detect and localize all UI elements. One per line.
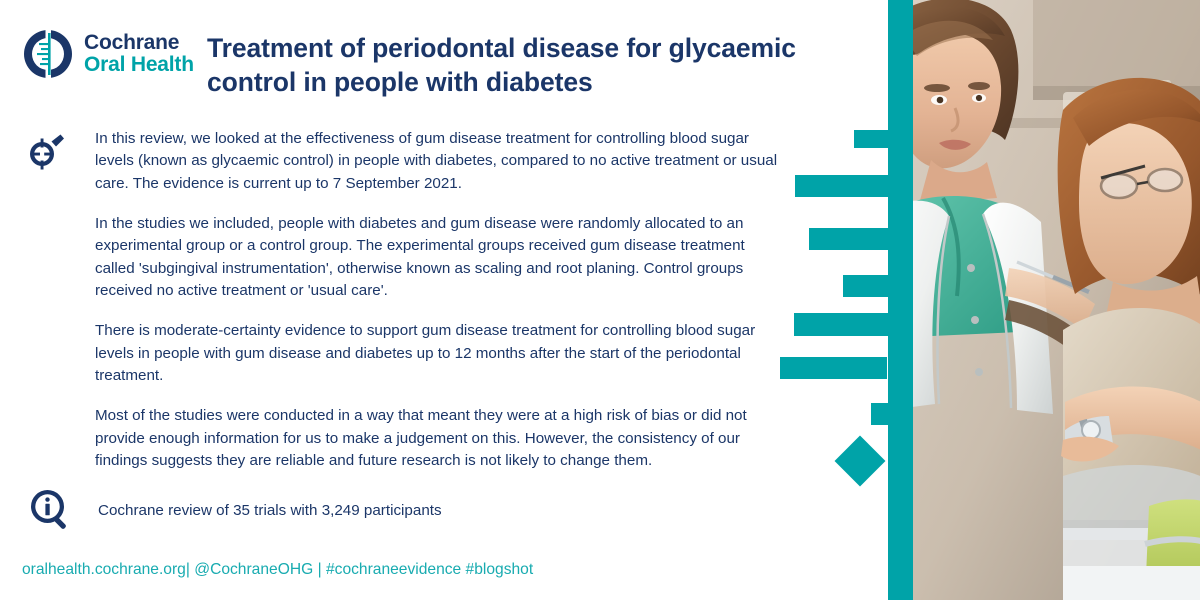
blogshot-poster: Cochrane Oral Health Treatment of period…	[0, 0, 1200, 600]
cochrane-logo-icon	[22, 28, 74, 80]
content-column: Cochrane Oral Health Treatment of period…	[0, 0, 800, 600]
target-crosshair-icon	[24, 131, 68, 175]
magnifier-info-icon	[28, 487, 74, 533]
evidence-summary-text: Cochrane review of 35 trials with 3,249 …	[98, 502, 442, 519]
footer-separator-1: |	[186, 561, 190, 578]
footer-handle[interactable]: @CochraneOHG	[194, 561, 313, 578]
logo-line-cochrane: Cochrane	[84, 32, 194, 54]
forest-plot-bar	[843, 275, 918, 297]
forest-plot-diamond	[835, 436, 886, 487]
cochrane-oral-health-logo[interactable]: Cochrane Oral Health	[22, 28, 194, 80]
footer-hashtags[interactable]: #cochraneevidence #blogshot	[326, 561, 533, 578]
forest-plot-bar	[795, 175, 917, 197]
forest-plot-bar	[780, 357, 887, 379]
footer-separator-2: |	[318, 561, 322, 578]
page-title: Treatment of periodontal disease for gly…	[207, 31, 867, 100]
paragraph-2: In the studies we included, people with …	[95, 213, 785, 302]
logo-wordmark: Cochrane Oral Health	[84, 32, 194, 75]
footer-website[interactable]: oralhealth.cochrane.org	[22, 561, 186, 578]
body-text: In this review, we looked at the effecti…	[95, 128, 785, 472]
dentist-and-patient-photo	[913, 0, 1200, 600]
forest-plot-bar	[854, 130, 896, 148]
paragraph-4: Most of the studies were conducted in a …	[95, 405, 785, 472]
logo-line-oral-health: Oral Health	[84, 54, 194, 76]
forest-plot-decoration	[780, 0, 915, 600]
footer-links[interactable]: oralhealth.cochrane.org| @CochraneOHG | …	[22, 561, 533, 579]
forest-plot-bar	[809, 228, 909, 250]
paragraph-1: In this review, we looked at the effecti…	[95, 128, 785, 195]
paragraph-3: There is moderate-certainty evidence to …	[95, 320, 785, 387]
forest-plot-bar	[871, 403, 915, 425]
forest-plot-spine	[888, 0, 913, 600]
forest-plot-bar	[794, 313, 914, 336]
evidence-summary: Cochrane review of 35 trials with 3,249 …	[28, 487, 442, 533]
